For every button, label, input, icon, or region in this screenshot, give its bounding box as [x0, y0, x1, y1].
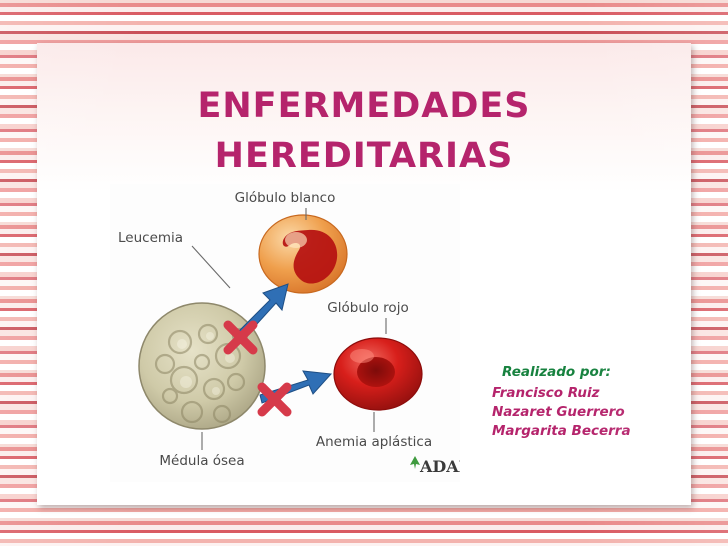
bone-marrow-illustration: [139, 303, 265, 429]
credits-block: Realizado por: Francisco Ruiz Nazaret Gu…: [492, 363, 682, 441]
page-title: ENFERMEDADES HEREDITARIAS: [37, 81, 691, 181]
white-blood-cell-illustration: [259, 215, 347, 293]
blood-cells-diagram: Glóbulo blanco Leucemia Glóbulo rojo Méd…: [110, 184, 460, 482]
label-bone-marrow: Médula ósea: [159, 453, 244, 469]
red-blood-cell-illustration: [334, 338, 422, 410]
credits-heading: Realizado por:: [502, 363, 682, 382]
label-leukemia: Leucemia: [118, 230, 183, 246]
credit-name-2: Nazaret Guerrero: [492, 403, 682, 422]
svg-text:ADAM.: ADAM.: [419, 457, 460, 476]
slide-background: ENFERMEDADES HEREDITARIAS: [0, 0, 728, 546]
credit-name-3: Margarita Becerra: [492, 422, 682, 441]
label-white-cell: Glóbulo blanco: [235, 190, 336, 206]
label-aplastic-anemia: Anemia aplástica: [316, 434, 432, 450]
title-line-2: HEREDITARIAS: [37, 131, 691, 181]
credit-name-1: Francisco Ruiz: [492, 384, 682, 403]
label-red-cell: Glóbulo rojo: [327, 300, 408, 316]
presentation-slide: ENFERMEDADES HEREDITARIAS: [37, 43, 691, 505]
title-line-1: ENFERMEDADES: [197, 86, 530, 126]
